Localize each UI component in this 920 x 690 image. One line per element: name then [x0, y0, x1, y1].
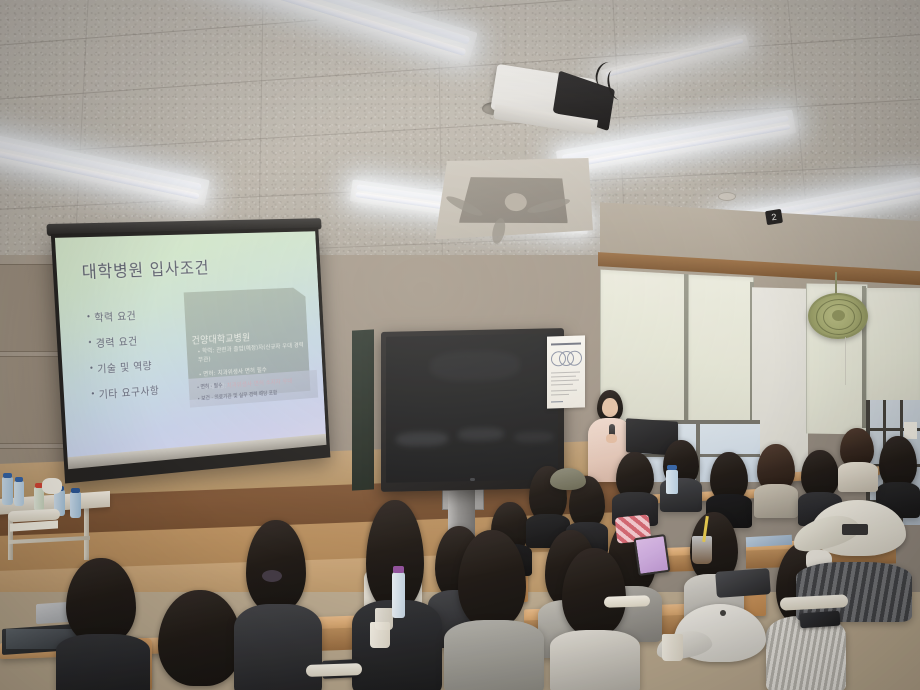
water-bottle — [392, 572, 405, 618]
wall-fan — [808, 293, 868, 339]
baseball-cap — [550, 468, 586, 490]
presenter-face — [602, 398, 618, 417]
hair-tie — [262, 570, 282, 582]
paper-cup — [375, 608, 393, 630]
smoke-detector-icon — [718, 192, 736, 201]
water-bottle — [14, 481, 24, 506]
student — [612, 452, 658, 524]
bottle-cap — [393, 566, 404, 573]
cap-button — [720, 610, 726, 616]
slide-bullet-list: 학력 요건 경력 요건 기술 및 역량 기타 요구사항 — [86, 307, 160, 413]
ceiling-air-conditioner — [432, 148, 598, 251]
slide-sub-list: 면허 ‧ 필수 보건 ‧ 의료기관 및 실무 경력 해당 포함 — [197, 377, 278, 406]
table-leg — [84, 506, 89, 560]
poster-ring-icon — [567, 350, 582, 366]
fan-pull-cord[interactable] — [845, 337, 846, 385]
projected-slide: 대학병원 입사조건 학력 요건 경력 요건 기술 및 역량 기타 요구사항 건양… — [55, 231, 327, 469]
display-power-indicator — [470, 478, 475, 481]
rolled-paper — [604, 595, 650, 608]
student — [838, 428, 878, 490]
bottle-cap — [667, 465, 677, 470]
wall-poster — [547, 335, 585, 408]
slide-bullet: 기술 및 역량 — [89, 358, 158, 377]
water-bottle — [2, 477, 13, 505]
student — [556, 548, 632, 690]
bottle-cap — [3, 473, 12, 478]
slide-title: 대학병원 입사조건 — [81, 254, 210, 283]
classroom-photo-scene: 대학병원 입사조건 학력 요건 경력 요건 기술 및 역량 기타 요구사항 건양… — [0, 0, 920, 690]
smartphone[interactable] — [800, 611, 841, 629]
face-mask — [42, 478, 62, 494]
light-switch-number: 2 — [771, 212, 778, 223]
student — [240, 520, 312, 690]
presenter-hand — [606, 434, 617, 443]
display-screen — [386, 333, 558, 483]
paper-cup — [662, 634, 683, 661]
water-bottle — [666, 470, 678, 494]
student — [60, 558, 144, 690]
water-bottle — [70, 492, 81, 518]
pencil-case — [715, 568, 771, 598]
slide-bullet: 경력 요건 — [87, 333, 156, 352]
student-with-cap — [546, 468, 590, 508]
student — [450, 530, 534, 690]
window-roller-blind[interactable] — [866, 288, 920, 406]
slide-sub-item: 보건 ‧ 의료기관 및 실무 경력 해당 포함 — [197, 389, 277, 403]
screen-frame: 대학병원 입사조건 학력 요건 경력 요건 기술 및 역량 기타 요구사항 건양… — [51, 227, 331, 483]
slide-bullet: 학력 요건 — [86, 307, 156, 325]
bottle-cap — [71, 488, 80, 493]
rolled-paper — [306, 663, 362, 677]
window-roller-blind[interactable] — [688, 275, 754, 436]
tablet-device[interactable] — [634, 534, 671, 576]
light-switch-plate[interactable]: 2 — [765, 209, 783, 225]
slide-bullet: 기타 요구사항 — [90, 383, 159, 403]
cap-logo-patch — [842, 524, 868, 535]
student — [754, 444, 798, 516]
projection-screen: 대학병원 입사조건 학력 요건 경력 요건 기술 및 역량 기타 요구사항 건양… — [51, 227, 331, 483]
chalkboard — [352, 329, 374, 490]
bottle-cap — [15, 477, 23, 482]
